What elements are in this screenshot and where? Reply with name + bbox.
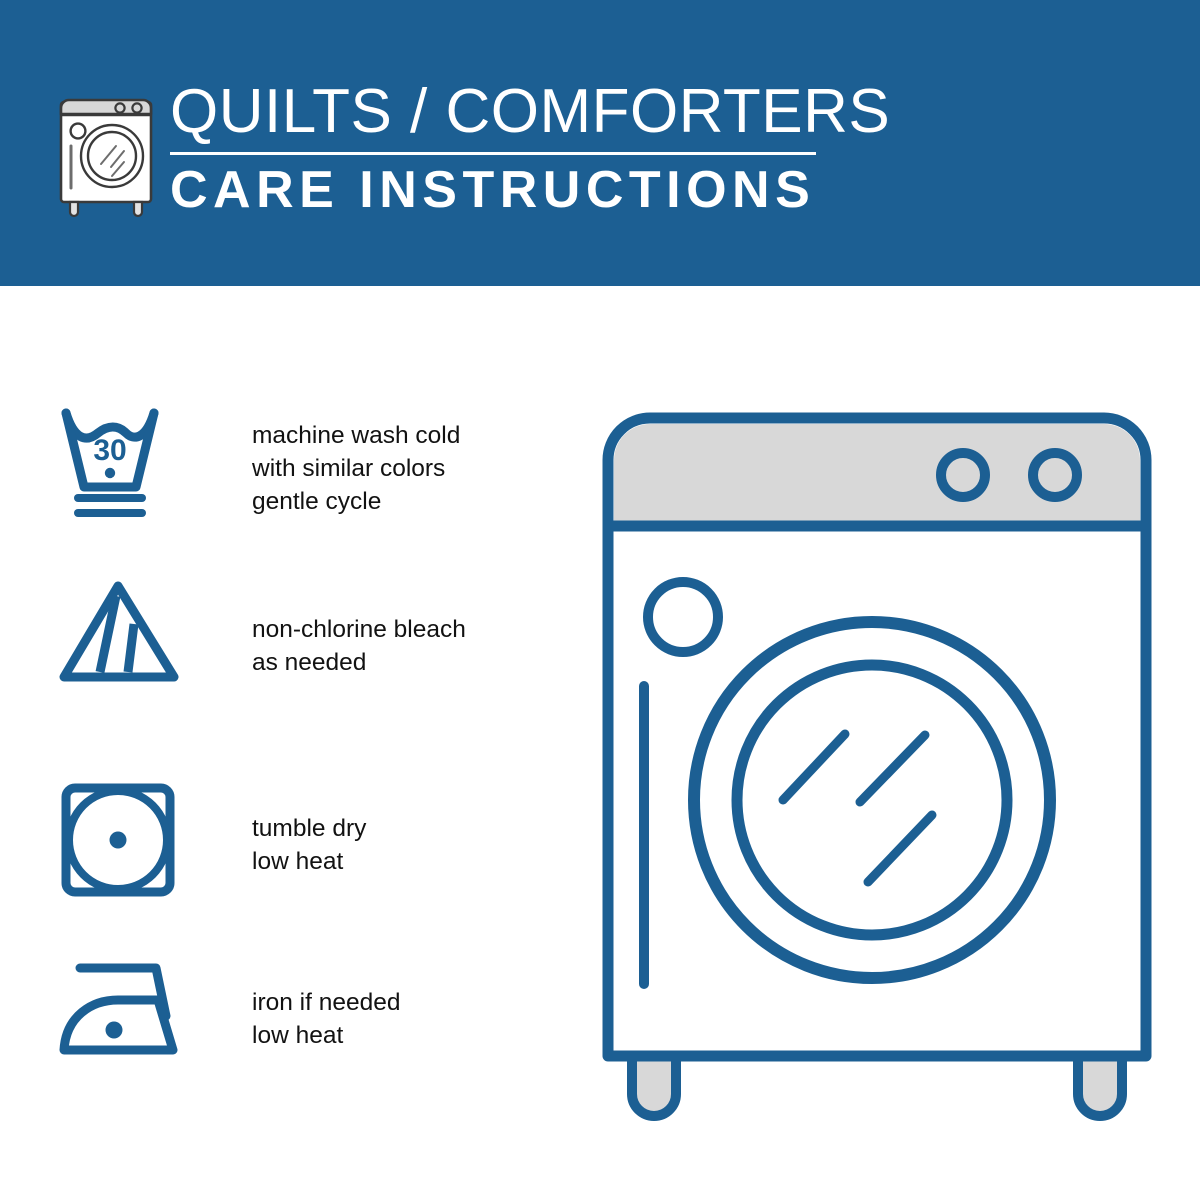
wash-tub-30-gentle-icon: 30 [56, 405, 196, 525]
list-item: 30 machine wash cold with similar colors… [56, 405, 526, 525]
list-item-label: non-chlorine bleach as needed [252, 576, 526, 679]
list-item-label: machine wash cold with similar colors ge… [252, 405, 526, 518]
page-title: QUILTS / COMFORTERS [170, 80, 1144, 144]
washing-machine-icon [54, 84, 158, 218]
list-item: tumble dry low heat [56, 780, 526, 900]
list-item-label: iron if needed low heat [252, 954, 526, 1052]
front-load-washing-machine-illustration [580, 390, 1170, 1130]
non-chlorine-bleach-triangle-icon [56, 576, 196, 696]
list-item: iron if needed low heat [56, 954, 526, 1074]
header-banner: QUILTS / COMFORTERS CARE INSTRUCTIONS [0, 0, 1200, 286]
care-instructions-page: QUILTS / COMFORTERS CARE INSTRUCTIONS 30 [0, 0, 1200, 1200]
tumble-dry-low-icon [56, 780, 196, 900]
wash-temperature-value: 30 [93, 434, 126, 467]
list-item-label: tumble dry low heat [252, 780, 526, 878]
iron-low-heat-icon [56, 954, 196, 1074]
care-symbol-list: 30 machine wash cold with similar colors… [0, 286, 560, 1200]
list-item: non-chlorine bleach as needed [56, 576, 526, 696]
title-divider [170, 152, 816, 155]
page-subtitle: CARE INSTRUCTIONS [170, 162, 1144, 218]
header-content: QUILTS / COMFORTERS CARE INSTRUCTIONS [54, 78, 1144, 218]
control-panel [614, 424, 1140, 526]
header-title-group: QUILTS / COMFORTERS CARE INSTRUCTIONS [170, 78, 1144, 218]
